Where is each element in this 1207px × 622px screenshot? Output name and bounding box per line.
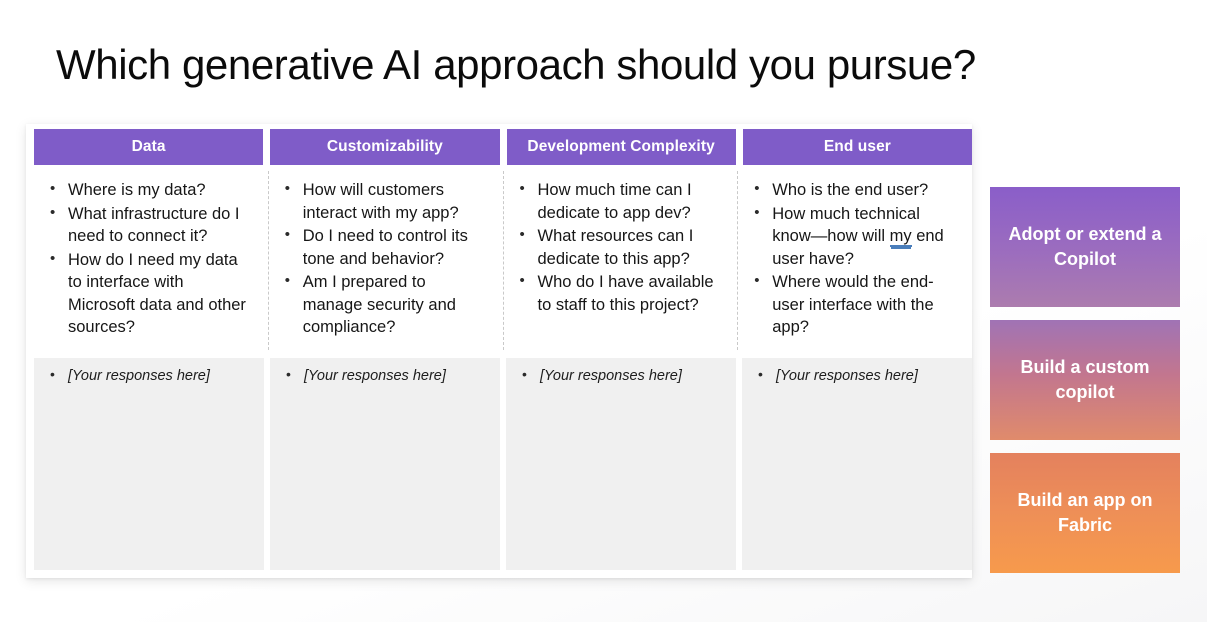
table-header-row: Data Customizability Development Complex… <box>34 129 972 165</box>
column-header-development-complexity: Development Complexity <box>507 129 736 165</box>
question-cell-development-complexity: How much time can I dedicate to app dev?… <box>504 171 739 350</box>
question-item: What resources can I dedicate to this ap… <box>512 225 724 270</box>
response-cell-development-complexity[interactable]: [Your responses here] <box>506 358 736 570</box>
question-list-end-user: Who is the end user? How much technical … <box>746 179 958 339</box>
question-list-data: Where is my data? What infrastructure do… <box>42 179 254 339</box>
column-header-end-user: End user <box>743 129 972 165</box>
option-card-adopt-or-extend-a-copilot[interactable]: Adopt or extend a Copilot <box>990 187 1180 307</box>
grammar-marked-word: my <box>890 227 912 247</box>
question-item: Who do I have available to staff to this… <box>512 271 724 316</box>
question-item: How much time can I dedicate to app dev? <box>512 179 724 224</box>
question-item: Do I need to control its tone and behavi… <box>277 225 489 270</box>
response-placeholder[interactable]: [Your responses here] <box>750 366 962 386</box>
response-cell-data[interactable]: [Your responses here] <box>34 358 264 570</box>
response-placeholder[interactable]: [Your responses here] <box>514 366 726 386</box>
question-list-customizability: How will customers interact with my app?… <box>277 179 489 339</box>
response-cell-customizability[interactable]: [Your responses here] <box>270 358 500 570</box>
decision-table-panel: Data Customizability Development Complex… <box>26 124 972 578</box>
response-cell-end-user[interactable]: [Your responses here] <box>742 358 972 570</box>
question-cell-data: Where is my data? What infrastructure do… <box>34 171 269 350</box>
response-placeholder[interactable]: [Your responses here] <box>278 366 490 386</box>
question-item: How do I need my data to interface with … <box>42 249 254 339</box>
question-item: What infrastructure do I need to connect… <box>42 203 254 248</box>
slide-canvas: Which generative AI approach should you … <box>0 0 1207 622</box>
column-header-data: Data <box>34 129 263 165</box>
column-header-customizability: Customizability <box>270 129 499 165</box>
question-item: Am I prepared to manage security and com… <box>277 271 489 339</box>
option-card-list: Adopt or extend a Copilot Build a custom… <box>990 187 1180 586</box>
question-item-marked: How much technical know—how will my end … <box>746 203 958 271</box>
option-card-build-an-app-on-fabric[interactable]: Build an app on Fabric <box>990 453 1180 573</box>
question-row: Where is my data? What infrastructure do… <box>34 171 972 350</box>
response-list: [Your responses here] <box>42 366 254 386</box>
response-list: [Your responses here] <box>514 366 726 386</box>
question-item: Who is the end user? <box>746 179 958 202</box>
option-card-build-a-custom-copilot[interactable]: Build a custom copilot <box>990 320 1180 440</box>
response-row: [Your responses here] [Your responses he… <box>34 358 972 570</box>
question-item: Where is my data? <box>42 179 254 202</box>
question-cell-customizability: How will customers interact with my app?… <box>269 171 504 350</box>
response-list: [Your responses here] <box>278 366 490 386</box>
response-list: [Your responses here] <box>750 366 962 386</box>
question-item: Where would the end-user interface with … <box>746 271 958 339</box>
question-cell-end-user: Who is the end user? How much technical … <box>738 171 972 350</box>
response-placeholder[interactable]: [Your responses here] <box>42 366 254 386</box>
question-list-development-complexity: How much time can I dedicate to app dev?… <box>512 179 724 316</box>
page-title: Which generative AI approach should you … <box>56 41 976 89</box>
question-item: How will customers interact with my app? <box>277 179 489 224</box>
